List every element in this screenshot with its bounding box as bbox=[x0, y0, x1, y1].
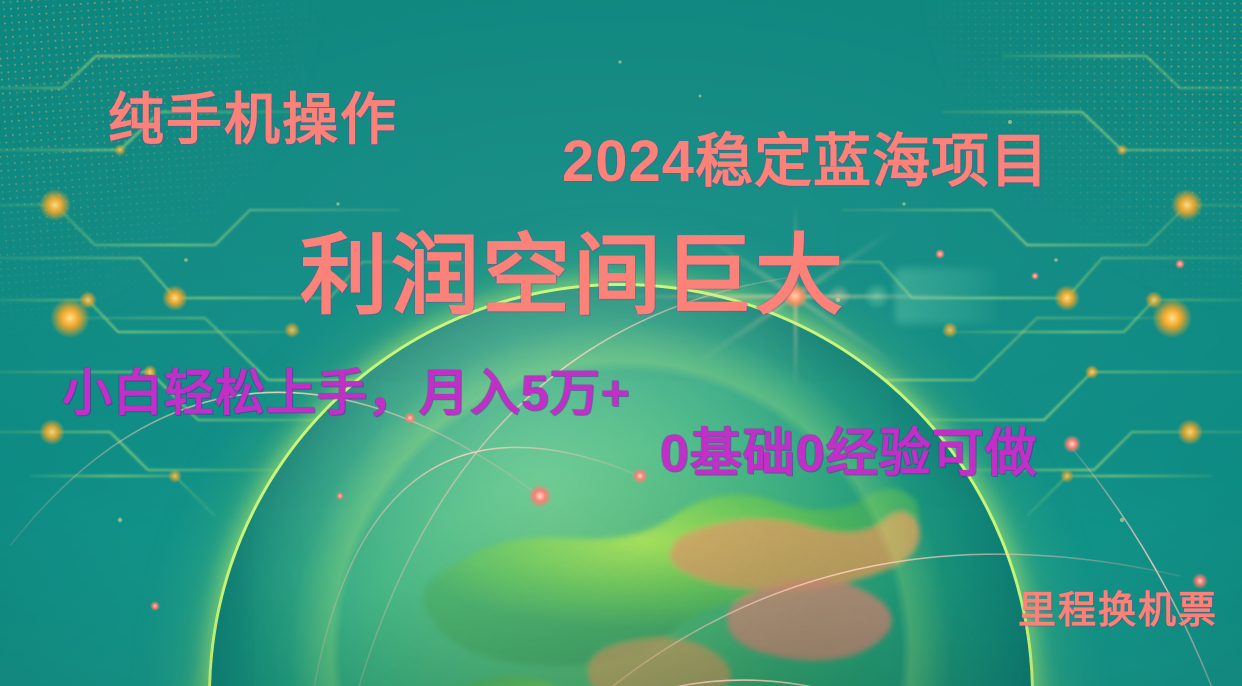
promo-poster: 纯手机操作 2024稳定蓝海项目 利润空间巨大 小白轻松上手，月入5万+ 0基础… bbox=[0, 0, 1242, 686]
page-title: 利润空间巨大 bbox=[300, 232, 846, 320]
hook-mobile-text: 纯手机操作 bbox=[108, 92, 398, 148]
tag-miles-text: 里程换机票 bbox=[1018, 592, 1218, 630]
hook-year-text: 2024稳定蓝海项目 bbox=[562, 133, 1049, 191]
subtitle-zero-text: 0基础0经验可做 bbox=[660, 428, 1038, 480]
subtitle-easy-text: 小白轻松上手，月入5万+ bbox=[62, 368, 631, 418]
